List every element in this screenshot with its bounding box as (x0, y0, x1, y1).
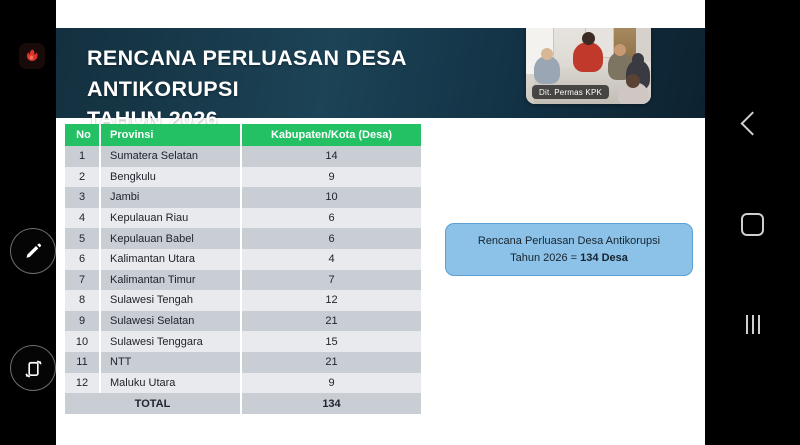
home-square-glyph (741, 213, 764, 236)
video-person-red-head (582, 32, 595, 45)
table-header-row: No Provinsi Kabupaten/Kota (Desa) (65, 124, 421, 146)
cell-provinsi: Kalimantan Timur (100, 270, 241, 291)
video-person-hijab-head (632, 53, 644, 66)
table-row: 6 Kalimantan Utara 4 (65, 249, 421, 270)
cell-provinsi: Sulawesi Tenggara (100, 331, 241, 352)
title-line-1: RENCANA PERLUASAN DESA ANTIKORUPSI (87, 43, 557, 104)
cell-desa: 9 (241, 373, 421, 394)
cell-provinsi: Sumatera Selatan (100, 146, 241, 167)
cell-no: 11 (65, 352, 100, 373)
cell-no: 4 (65, 208, 100, 229)
table-body: 1 Sumatera Selatan 14 2 Bengkulu 9 3 Jam… (65, 146, 421, 393)
cell-provinsi: Maluku Utara (100, 373, 241, 394)
video-person-left-head (541, 48, 553, 60)
table-row: 1 Sumatera Selatan 14 (65, 146, 421, 167)
callout-line-2-prefix: Tahun 2026 = (510, 252, 580, 264)
cell-provinsi: Kepulauan Babel (100, 228, 241, 249)
cell-no: 3 (65, 187, 100, 208)
video-person-left (534, 56, 560, 84)
back-chevron-glyph (740, 111, 764, 135)
table-row: 10 Sulawesi Tenggara 15 (65, 331, 421, 352)
page-title: RENCANA PERLUASAN DESA ANTIKORUPSI TAHUN… (87, 43, 557, 135)
cell-desa: 12 (241, 290, 421, 311)
cell-desa: 4 (241, 249, 421, 270)
table-row: 3 Jambi 10 (65, 187, 421, 208)
home-square-icon[interactable] (705, 206, 800, 242)
table-total-row: TOTAL 134 (65, 393, 421, 414)
recents-lines-glyph (746, 315, 760, 334)
cell-provinsi: Kepulauan Riau (100, 208, 241, 229)
cell-no: 2 (65, 167, 100, 188)
column-header-no: No (65, 124, 100, 146)
cell-desa: 10 (241, 187, 421, 208)
callout-line-1: Rencana Perluasan Desa Antikorupsi (454, 233, 684, 250)
callout-line-2: Tahun 2026 = 134 Desa (454, 250, 684, 267)
total-value: 134 (241, 393, 421, 414)
cell-provinsi: Sulawesi Tengah (100, 290, 241, 311)
cell-provinsi: Kalimantan Utara (100, 249, 241, 270)
cell-provinsi: Jambi (100, 187, 241, 208)
cell-no: 7 (65, 270, 100, 291)
phone-frame: RENCANA PERLUASAN DESA ANTIKORUPSI TAHUN… (0, 0, 800, 445)
cell-no: 10 (65, 331, 100, 352)
table-row: 2 Bengkulu 9 (65, 167, 421, 188)
column-header-desa: Kabupaten/Kota (Desa) (241, 124, 421, 146)
cell-no: 12 (65, 373, 100, 394)
table-row: 7 Kalimantan Timur 7 (65, 270, 421, 291)
table-row: 4 Kepulauan Riau 6 (65, 208, 421, 229)
cell-desa: 7 (241, 270, 421, 291)
cell-desa: 9 (241, 167, 421, 188)
table-row: 11 NTT 21 (65, 352, 421, 373)
callout-line-2-strong: 134 Desa (580, 252, 628, 264)
recents-lines-icon[interactable] (705, 306, 800, 342)
cell-no: 6 (65, 249, 100, 270)
video-person-right-head (614, 44, 626, 56)
cell-desa: 6 (241, 208, 421, 229)
video-person-red (573, 42, 603, 72)
column-header-provinsi: Provinsi (100, 124, 241, 146)
screen-top-strip (56, 0, 705, 28)
province-village-table: No Provinsi Kabupaten/Kota (Desa) 1 Suma… (65, 124, 421, 414)
video-participant-label: Dit. Permas KPK (532, 85, 609, 99)
cell-no: 9 (65, 311, 100, 332)
video-person-front-head (626, 74, 640, 88)
cell-provinsi: NTT (100, 352, 241, 373)
cell-desa: 21 (241, 352, 421, 373)
cell-no: 1 (65, 146, 100, 167)
cell-desa: 6 (241, 228, 421, 249)
pencil-icon[interactable] (10, 228, 56, 274)
participant-video-thumbnail[interactable]: Dit. Permas KPK (526, 16, 651, 104)
summary-callout: Rencana Perluasan Desa Antikorupsi Tahun… (445, 223, 693, 276)
rotate-screen-icon[interactable] (10, 345, 56, 391)
cell-no: 5 (65, 228, 100, 249)
cell-provinsi: Bengkulu (100, 167, 241, 188)
table-row: 12 Maluku Utara 9 (65, 373, 421, 394)
cell-desa: 15 (241, 331, 421, 352)
total-label: TOTAL (65, 393, 241, 414)
left-toolbar (0, 0, 56, 445)
cell-no: 8 (65, 290, 100, 311)
recording-logo-icon[interactable] (19, 43, 45, 69)
android-navigation-bar (705, 0, 800, 445)
cell-provinsi: Sulawesi Selatan (100, 311, 241, 332)
cell-desa: 14 (241, 146, 421, 167)
cell-desa: 21 (241, 311, 421, 332)
table-row: 9 Sulawesi Selatan 21 (65, 311, 421, 332)
table-row: 8 Sulawesi Tengah 12 (65, 290, 421, 311)
table-row: 5 Kepulauan Babel 6 (65, 228, 421, 249)
back-chevron-icon[interactable] (705, 105, 800, 141)
